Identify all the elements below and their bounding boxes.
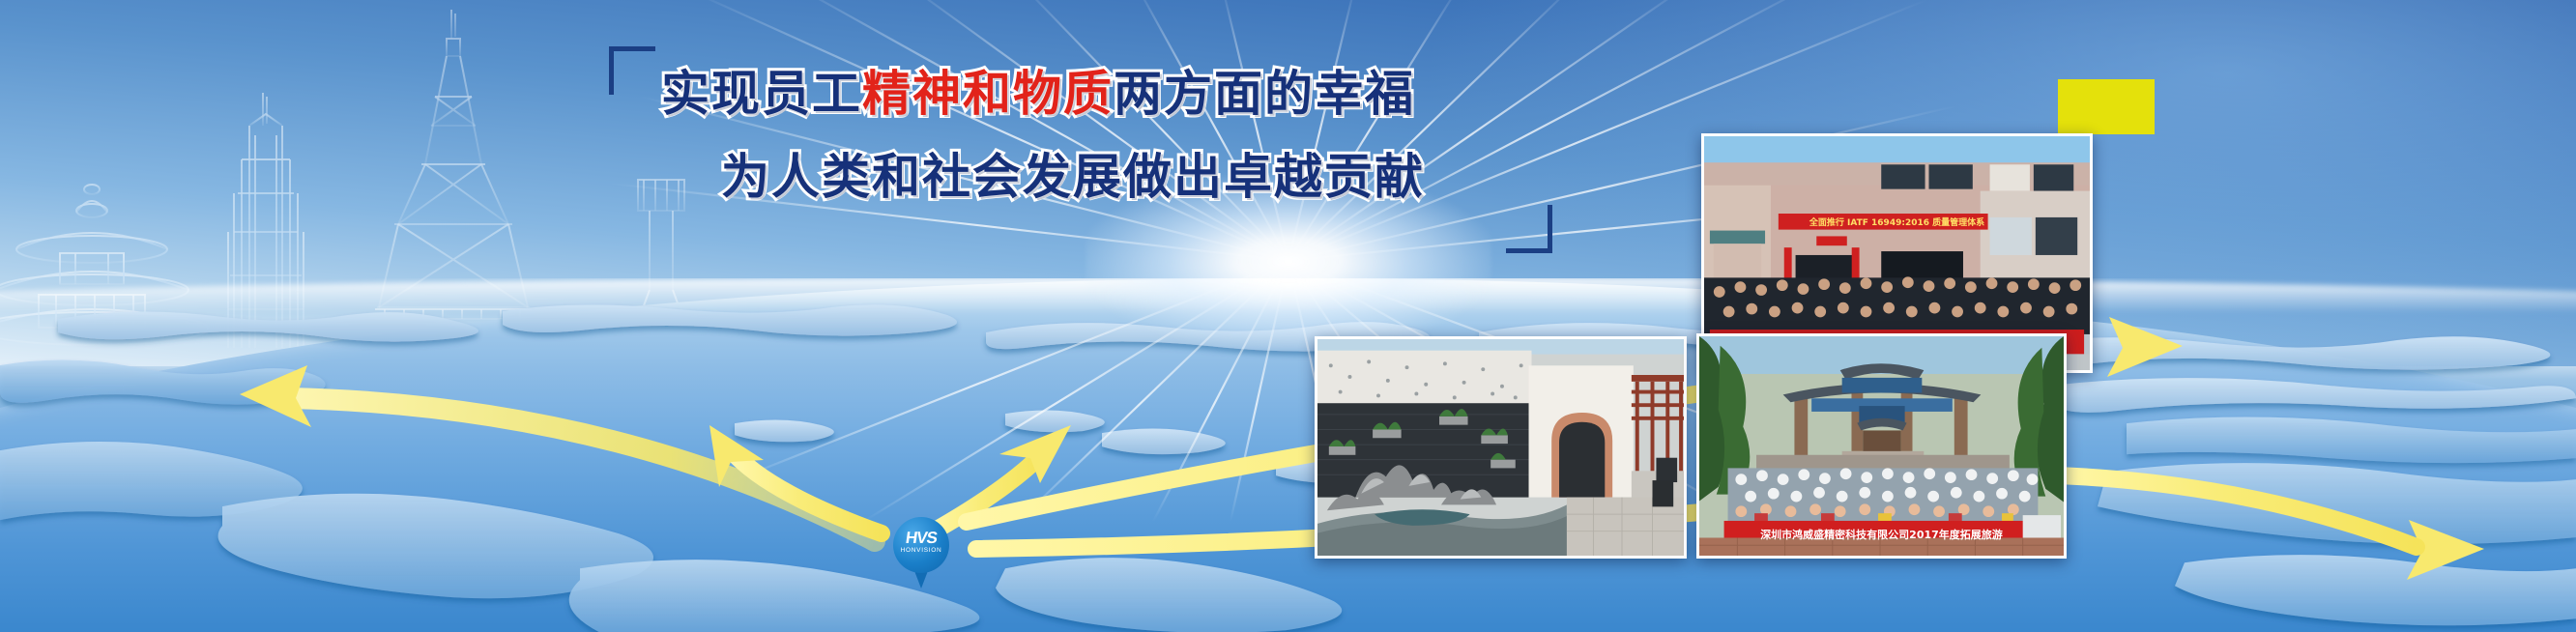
slogan-seg-4: 为人类和社会发展做出卓越贡献: [721, 153, 1425, 201]
honvision-location-pin[interactable]: HVS HONVISION: [893, 517, 949, 589]
photo-courtyard[interactable]: [1315, 336, 1687, 559]
photo-outing-2017[interactable]: 深圳市鸿威盛精密科技有限公司2017年度拓展旅游: [1696, 333, 2067, 559]
corporate-banner: HVS HONVISION 实现员工精神和物质两方面的幸福 为人类和社会发展做出…: [0, 0, 2576, 632]
slogan-block: 实现员工精神和物质两方面的幸福 为人类和社会发展做出卓越贡献: [607, 46, 1554, 249]
photo-iatf-banner-top: 全面推行 IATF 16949:2016 质量管理体系: [1704, 215, 2090, 228]
pin-logo: HVS HONVISION: [893, 530, 949, 555]
slogan-seg-1: 实现员工: [661, 70, 862, 118]
slogan-seg-2: 精神和物质: [862, 70, 1114, 118]
continents: [0, 278, 2576, 632]
brand-name: HONVISION: [893, 546, 949, 555]
photo-outing-artwork: [1699, 336, 2064, 556]
slogan-line-1: 实现员工精神和物质两方面的幸福: [661, 70, 1415, 118]
accent-block: [2058, 79, 2155, 134]
photo-outing-banner: 深圳市鸿威盛精密科技有限公司2017年度拓展旅游: [1699, 527, 2064, 542]
globe: [0, 278, 2576, 632]
photo-courtyard-artwork: [1317, 339, 1684, 556]
slogan-line-2: 为人类和社会发展做出卓越贡献: [721, 153, 1425, 201]
brand-mark: HVS: [892, 530, 950, 546]
bracket-bottom-right-icon: [1506, 205, 1552, 253]
slogan-seg-3: 两方面的幸福: [1114, 70, 1415, 118]
eiffel-tower-icon: [375, 10, 532, 319]
bracket-top-left-icon: [609, 46, 655, 95]
